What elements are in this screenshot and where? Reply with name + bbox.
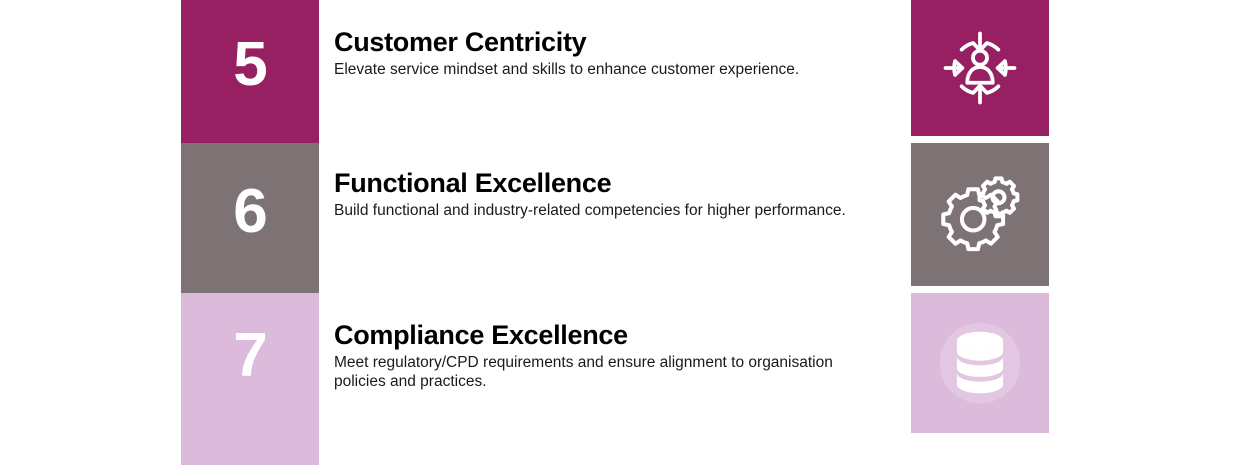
icon-tile-6 — [911, 143, 1049, 286]
icon-tile-7 — [911, 293, 1049, 433]
icon-tile-5 — [911, 0, 1049, 136]
pillar-heading: Compliance Excellence — [334, 320, 894, 350]
pillar-text-block-5: Customer Centricity Elevate service mind… — [334, 0, 894, 163]
pillar-number: 7 — [233, 325, 266, 387]
database-icon — [932, 315, 1028, 411]
pillar-description: Elevate service mindset and skills to en… — [334, 61, 854, 80]
number-tile-7: 7 — [181, 293, 319, 465]
pillar-number: 5 — [233, 34, 266, 96]
pillar-text-block-6: Functional Excellence Build functional a… — [334, 143, 894, 311]
pillar-row-functional-excellence: 6 Functional Excellence Build functional… — [0, 143, 1234, 286]
pillar-row-compliance-excellence: 7 Compliance Excellence Meet regulatory/… — [0, 293, 1234, 433]
pillar-description: Build functional and industry-related co… — [334, 202, 854, 221]
pillar-text-block-7: Compliance Excellence Meet regulatory/CP… — [334, 293, 894, 460]
pillar-number: 6 — [233, 181, 266, 243]
pillar-row-customer-centricity: 5 Customer Centricity Elevate service mi… — [0, 0, 1234, 136]
pillar-description: Meet regulatory/CPD requirements and ens… — [334, 354, 854, 392]
person-target-icon — [939, 27, 1021, 109]
pillar-heading: Customer Centricity — [334, 27, 894, 57]
capability-pillars-board: 5 Customer Centricity Elevate service mi… — [0, 0, 1234, 433]
gears-icon — [938, 173, 1022, 257]
pillar-heading: Functional Excellence — [334, 168, 894, 198]
